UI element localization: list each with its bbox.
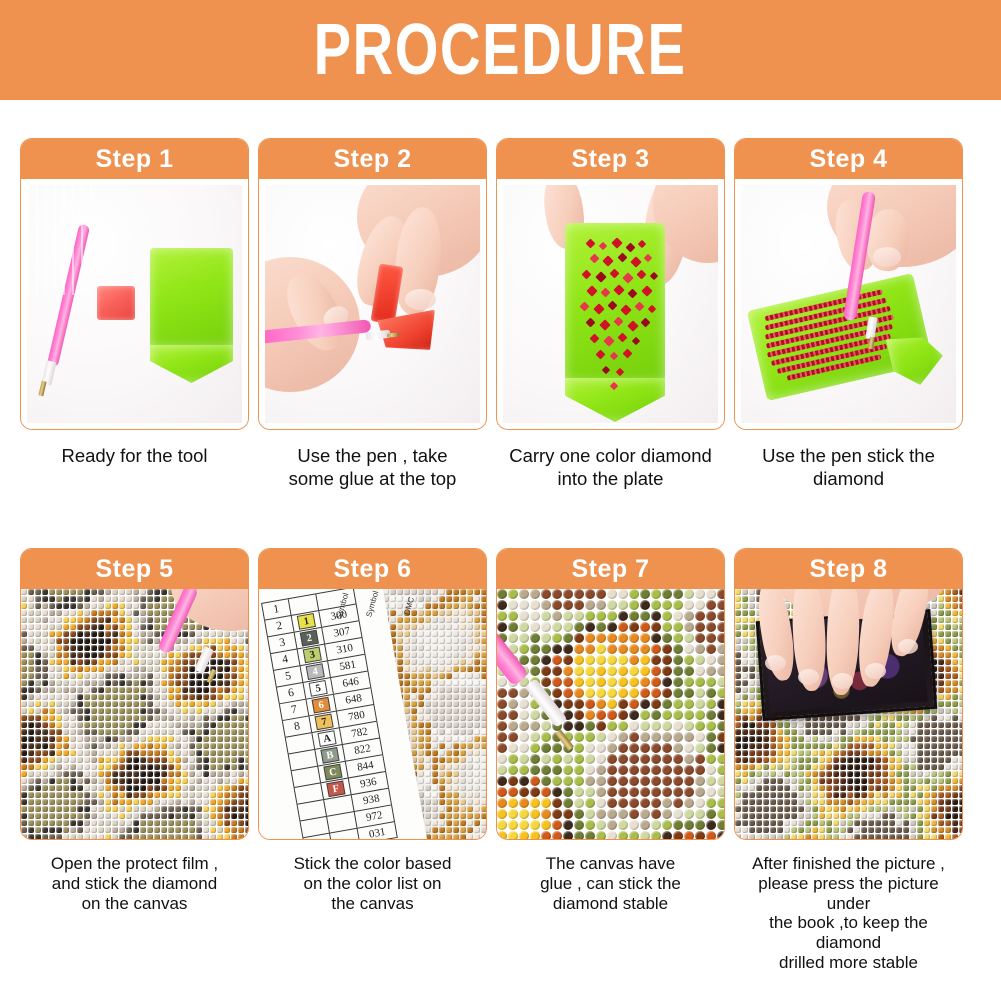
mosaic-bead xyxy=(439,771,445,777)
mosaic-bead xyxy=(563,611,573,621)
mosaic-bead xyxy=(812,750,818,756)
mosaic-bead xyxy=(552,688,562,698)
mosaic-bead xyxy=(596,798,606,808)
mosaic-bead xyxy=(21,673,27,679)
mosaic-bead xyxy=(952,589,958,595)
mosaic-bead xyxy=(861,757,867,763)
mosaic-bead xyxy=(439,708,445,714)
mosaic-bead xyxy=(411,736,417,742)
mosaic-bead xyxy=(161,687,167,693)
mosaic-bead xyxy=(175,729,181,735)
mosaic-bead xyxy=(238,659,244,665)
mosaic-bead xyxy=(812,722,818,728)
mosaic-bead xyxy=(189,694,195,700)
mosaic-bead xyxy=(959,722,962,728)
mosaic-bead xyxy=(112,694,118,700)
mosaic-bead xyxy=(35,757,41,763)
mosaic-bead xyxy=(161,743,167,749)
mosaic-bead xyxy=(847,820,853,826)
mosaic-bead xyxy=(446,624,452,630)
mosaic-bead xyxy=(140,687,146,693)
mosaic-bead xyxy=(210,701,216,707)
mosaic-bead xyxy=(519,611,529,621)
mosaic-bead xyxy=(896,820,902,826)
mosaic-bead xyxy=(607,776,617,786)
mosaic-bead xyxy=(453,694,459,700)
mosaic-bead xyxy=(460,764,466,770)
mosaic-bead xyxy=(63,673,69,679)
mosaic-bead xyxy=(140,701,146,707)
mosaic-bead xyxy=(777,729,783,735)
mosaic-bead xyxy=(224,743,230,749)
mosaic-bead xyxy=(861,813,867,819)
mosaic-bead xyxy=(952,652,958,658)
mosaic-bead xyxy=(784,827,790,833)
mosaic-bead xyxy=(432,645,438,651)
mosaic-bead xyxy=(945,673,951,679)
step-card-8: Step 8 xyxy=(734,548,963,840)
mosaic-bead xyxy=(112,631,118,637)
mosaic-bead xyxy=(931,722,937,728)
mosaic-bead xyxy=(133,631,139,637)
step-cell-7: Step 7 The canvas have glue , can stick … xyxy=(496,548,725,972)
mosaic-bead xyxy=(945,617,951,623)
mosaic-bead xyxy=(35,722,41,728)
mosaic-bead xyxy=(168,722,174,728)
mosaic-bead xyxy=(63,820,69,826)
mosaic-bead xyxy=(460,792,466,798)
mosaic-bead xyxy=(931,603,937,609)
mosaic-bead xyxy=(460,806,466,812)
mosaic-bead xyxy=(425,694,431,700)
mosaic-bead xyxy=(210,715,216,721)
mosaic-bead xyxy=(474,659,480,665)
mosaic-bead xyxy=(585,699,595,709)
mosaic-bead xyxy=(189,680,195,686)
mosaic-bead xyxy=(210,687,216,693)
mosaic-bead xyxy=(563,644,573,654)
mosaic-bead xyxy=(217,645,223,651)
mosaic-bead xyxy=(819,778,825,784)
mosaic-bead xyxy=(245,687,248,693)
mosaic-bead xyxy=(931,736,937,742)
mosaic-bead xyxy=(749,708,755,714)
mosaic-bead xyxy=(784,792,790,798)
mosaic-bead xyxy=(742,715,748,721)
mosaic-bead xyxy=(231,673,237,679)
mosaic-bead xyxy=(105,666,111,672)
mosaic-bead xyxy=(84,610,90,616)
mosaic-bead xyxy=(411,631,417,637)
mosaic-bead xyxy=(889,771,895,777)
mosaic-bead xyxy=(840,743,846,749)
mosaic-bead xyxy=(453,645,459,651)
mosaic-bead xyxy=(875,743,881,749)
mosaic-bead xyxy=(777,778,783,784)
mosaic-bead xyxy=(161,827,167,833)
mosaic-bead xyxy=(717,622,724,632)
pen-glue-tray-tools-photo xyxy=(27,185,242,423)
mosaic-bead xyxy=(77,694,83,700)
mosaic-bead xyxy=(735,694,741,700)
mosaic-bead xyxy=(938,792,944,798)
mosaic-bead xyxy=(618,688,628,698)
mosaic-bead xyxy=(77,827,83,833)
mosaic-bead xyxy=(474,743,480,749)
mosaic-bead xyxy=(210,750,216,756)
mosaic-bead xyxy=(154,694,160,700)
mosaic-bead xyxy=(735,638,741,644)
mosaic-bead xyxy=(404,701,410,707)
mosaic-bead xyxy=(91,750,97,756)
mosaic-bead xyxy=(952,617,958,623)
mosaic-bead xyxy=(585,721,595,731)
mosaic-bead xyxy=(903,827,909,833)
mosaic-bead xyxy=(460,645,466,651)
mosaic-bead xyxy=(175,799,181,805)
mosaic-bead xyxy=(684,798,694,808)
mosaic-bead xyxy=(35,799,41,805)
mosaic-bead xyxy=(717,787,724,797)
mosaic-bead xyxy=(607,732,617,742)
mosaic-bead xyxy=(63,743,69,749)
chart-symbol-swatch: F xyxy=(326,781,345,798)
mosaic-bead xyxy=(706,677,716,687)
mosaic-bead xyxy=(98,631,104,637)
mosaic-bead xyxy=(231,799,237,805)
mosaic-bead xyxy=(684,776,694,786)
mosaic-bead xyxy=(812,785,818,791)
mosaic-bead xyxy=(425,750,431,756)
mosaic-bead xyxy=(784,722,790,728)
mosaic-bead xyxy=(460,652,466,658)
mosaic-bead xyxy=(749,610,755,616)
mosaic-bead xyxy=(706,655,716,665)
mosaic-bead xyxy=(91,680,97,686)
mosaic-bead xyxy=(959,638,962,644)
mosaic-bead xyxy=(882,771,888,777)
mosaic-bead xyxy=(460,603,466,609)
mosaic-bead xyxy=(210,757,216,763)
mosaic-bead xyxy=(910,813,916,819)
mosaic-bead xyxy=(903,813,909,819)
mosaic-bead xyxy=(833,813,839,819)
mosaic-bead xyxy=(924,743,930,749)
mosaic-bead xyxy=(742,813,748,819)
mosaic-bead xyxy=(91,617,97,623)
mosaic-bead xyxy=(231,771,237,777)
mosaic-bead xyxy=(133,813,139,819)
mosaic-bead xyxy=(854,757,860,763)
mosaic-bead xyxy=(446,722,452,728)
mosaic-bead xyxy=(673,831,683,839)
mosaic-bead xyxy=(21,743,27,749)
mosaic-bead xyxy=(196,813,202,819)
mosaic-bead xyxy=(662,820,672,830)
mosaic-bead xyxy=(98,757,104,763)
mosaic-bead xyxy=(910,827,916,833)
mosaic-bead xyxy=(49,834,55,839)
mosaic-bead xyxy=(875,736,881,742)
mosaic-bead xyxy=(882,743,888,749)
mosaic-bead xyxy=(224,778,230,784)
mosaic-bead xyxy=(508,600,518,610)
mosaic-bead xyxy=(695,688,705,698)
chart-symbol-swatch: C xyxy=(323,764,342,781)
mosaic-bead xyxy=(618,831,628,839)
mosaic-bead xyxy=(798,778,804,784)
mosaic-bead xyxy=(742,624,748,630)
mosaic-bead xyxy=(49,603,55,609)
mosaic-bead xyxy=(889,743,895,749)
mosaic-bead xyxy=(798,806,804,812)
mosaic-bead xyxy=(411,673,417,679)
mosaic-bead xyxy=(161,813,167,819)
mosaic-bead xyxy=(238,785,244,791)
mosaic-bead xyxy=(497,787,507,797)
mosaic-bead xyxy=(640,809,650,819)
mosaic-bead xyxy=(84,708,90,714)
mosaic-bead xyxy=(508,732,518,742)
mosaic-bead xyxy=(28,729,34,735)
step-header-8: Step 8 xyxy=(735,549,962,589)
mosaic-bead xyxy=(805,736,811,742)
mosaic-bead xyxy=(98,785,104,791)
mosaic-bead xyxy=(133,666,139,672)
mosaic-bead xyxy=(519,809,529,819)
mosaic-bead xyxy=(735,715,741,721)
mosaic-bead xyxy=(84,820,90,826)
mosaic-bead xyxy=(717,589,724,599)
mosaic-bead xyxy=(84,617,90,623)
mosaic-bead xyxy=(481,603,486,609)
mosaic-bead xyxy=(552,765,562,775)
mosaic-bead xyxy=(763,750,769,756)
mosaic-bead xyxy=(717,633,724,643)
mosaic-bead xyxy=(217,638,223,644)
mosaic-bead xyxy=(474,603,480,609)
mosaic-bead xyxy=(453,729,459,735)
mosaic-bead xyxy=(35,645,41,651)
mosaic-bead xyxy=(203,785,209,791)
mosaic-bead xyxy=(49,687,55,693)
mosaic-bead xyxy=(706,622,716,632)
mosaic-bead xyxy=(224,827,230,833)
mosaic-bead xyxy=(574,699,584,709)
mosaic-bead xyxy=(607,765,617,775)
step-caption-3: Carry one color diamond into the plate xyxy=(496,444,725,490)
mosaic-bead xyxy=(42,603,48,609)
mosaic-bead xyxy=(98,778,104,784)
mosaic-bead xyxy=(42,645,48,651)
mosaic-bead xyxy=(154,806,160,812)
chart-symbol-swatch: A xyxy=(317,730,336,747)
mosaic-bead xyxy=(910,715,916,721)
mosaic-bead xyxy=(735,603,741,609)
mosaic-bead xyxy=(231,785,237,791)
mosaic-bead xyxy=(133,757,139,763)
mosaic-bead xyxy=(161,778,167,784)
mosaic-bead xyxy=(28,820,34,826)
mosaic-bead xyxy=(777,722,783,728)
mosaic-bead xyxy=(70,834,76,839)
mosaic-bead xyxy=(147,596,153,602)
mosaic-bead xyxy=(28,750,34,756)
mosaic-bead xyxy=(140,589,146,595)
mosaic-bead xyxy=(133,687,139,693)
mosaic-bead xyxy=(42,610,48,616)
mosaic-bead xyxy=(189,792,195,798)
mosaic-bead xyxy=(245,701,248,707)
mosaic-bead xyxy=(21,820,27,826)
mosaic-bead xyxy=(563,600,573,610)
mosaic-bead xyxy=(432,722,438,728)
mosaic-bead xyxy=(749,820,755,826)
mosaic-bead xyxy=(812,757,818,763)
mosaic-bead xyxy=(826,729,832,735)
mosaic-bead xyxy=(695,655,705,665)
mosaic-bead xyxy=(425,820,431,826)
mosaic-bead xyxy=(63,701,69,707)
mosaic-bead xyxy=(175,736,181,742)
mosaic-bead xyxy=(467,610,473,616)
mosaic-bead xyxy=(618,754,628,764)
mosaic-bead xyxy=(847,722,853,728)
mosaic-bead xyxy=(21,813,27,819)
mosaic-bead xyxy=(812,827,818,833)
mosaic-bead xyxy=(182,673,188,679)
mosaic-bead xyxy=(35,596,41,602)
mosaic-bead xyxy=(552,798,562,808)
mosaic-bead xyxy=(585,633,595,643)
mosaic-bead xyxy=(607,655,617,665)
mosaic-bead xyxy=(826,743,832,749)
mosaic-bead xyxy=(49,813,55,819)
mosaic-bead xyxy=(763,757,769,763)
mosaic-bead xyxy=(175,722,181,728)
mosaic-bead xyxy=(910,792,916,798)
mosaic-bead xyxy=(133,624,139,630)
mosaic-bead xyxy=(189,834,195,839)
mosaic-bead xyxy=(629,633,639,643)
mosaic-bead xyxy=(49,638,55,644)
mosaic-bead xyxy=(147,806,153,812)
mosaic-bead xyxy=(684,633,694,643)
mosaic-bead xyxy=(84,631,90,637)
mosaic-bead xyxy=(742,687,748,693)
mosaic-bead xyxy=(56,659,62,665)
mosaic-bead xyxy=(826,813,832,819)
mosaic-bead xyxy=(574,732,584,742)
mosaic-bead xyxy=(629,655,639,665)
mosaic-bead xyxy=(742,708,748,714)
mosaic-bead xyxy=(154,680,160,686)
mosaic-bead xyxy=(21,806,27,812)
mosaic-bead xyxy=(70,680,76,686)
mosaic-bead xyxy=(798,743,804,749)
mosaic-bead xyxy=(840,771,846,777)
mosaic-bead xyxy=(945,736,951,742)
mosaic-bead xyxy=(140,652,146,658)
mosaic-bead xyxy=(418,645,424,651)
mosaic-bead xyxy=(805,750,811,756)
mosaic-bead xyxy=(112,799,118,805)
mosaic-bead xyxy=(439,764,445,770)
mosaic-bead xyxy=(28,827,34,833)
mosaic-bead xyxy=(147,645,153,651)
mosaic-bead xyxy=(497,765,507,775)
mosaic-bead xyxy=(618,622,628,632)
mosaic-bead xyxy=(147,736,153,742)
mosaic-bead xyxy=(453,792,459,798)
mosaic-bead xyxy=(91,603,97,609)
mosaic-bead xyxy=(196,645,202,651)
mosaic-bead xyxy=(695,644,705,654)
mosaic-bead xyxy=(56,757,62,763)
mosaic-bead xyxy=(847,778,853,784)
mosaic-bead xyxy=(126,778,132,784)
mosaic-bead xyxy=(126,610,132,616)
mosaic-bead xyxy=(896,771,902,777)
mosaic-bead xyxy=(826,757,832,763)
mosaic-bead xyxy=(798,813,804,819)
mosaic-bead xyxy=(98,708,104,714)
mosaic-bead xyxy=(189,645,195,651)
mosaic-bead xyxy=(467,715,473,721)
mosaic-bead xyxy=(945,659,951,665)
mosaic-bead xyxy=(418,708,424,714)
mosaic-bead xyxy=(508,611,518,621)
mosaic-bead xyxy=(154,589,160,595)
mosaic-bead xyxy=(460,743,466,749)
mosaic-bead xyxy=(742,799,748,805)
mosaic-bead xyxy=(49,757,55,763)
mosaic-bead xyxy=(717,754,724,764)
mosaic-bead xyxy=(439,813,445,819)
mosaic-bead xyxy=(882,820,888,826)
mosaic-bead xyxy=(425,778,431,784)
mosaic-bead xyxy=(749,743,755,749)
mosaic-bead xyxy=(446,785,452,791)
mosaic-bead xyxy=(673,600,683,610)
mosaic-bead xyxy=(945,771,951,777)
mosaic-bead xyxy=(168,715,174,721)
mosaic-bead xyxy=(460,687,466,693)
mosaic-bead xyxy=(706,600,716,610)
mosaic-bead xyxy=(684,820,694,830)
mosaic-bead xyxy=(105,631,111,637)
mosaic-bead xyxy=(903,750,909,756)
mosaic-bead xyxy=(735,659,741,665)
mosaic-bead xyxy=(763,743,769,749)
mosaic-bead xyxy=(742,764,748,770)
step-image-6: Symbol Symbol DMC 1213003230743310545816… xyxy=(259,589,486,839)
mosaic-bead xyxy=(56,638,62,644)
mosaic-bead xyxy=(618,743,628,753)
mosaic-bead xyxy=(231,701,237,707)
mosaic-bead xyxy=(168,673,174,679)
mosaic-bead xyxy=(56,708,62,714)
mosaic-bead xyxy=(112,638,118,644)
mosaic-bead xyxy=(84,673,90,679)
mosaic-bead xyxy=(98,743,104,749)
mosaic-bead xyxy=(735,806,741,812)
mosaic-bead xyxy=(63,806,69,812)
mosaic-bead xyxy=(203,729,209,735)
mosaic-bead xyxy=(161,785,167,791)
mosaic-bead xyxy=(84,596,90,602)
mosaic-bead xyxy=(98,701,104,707)
